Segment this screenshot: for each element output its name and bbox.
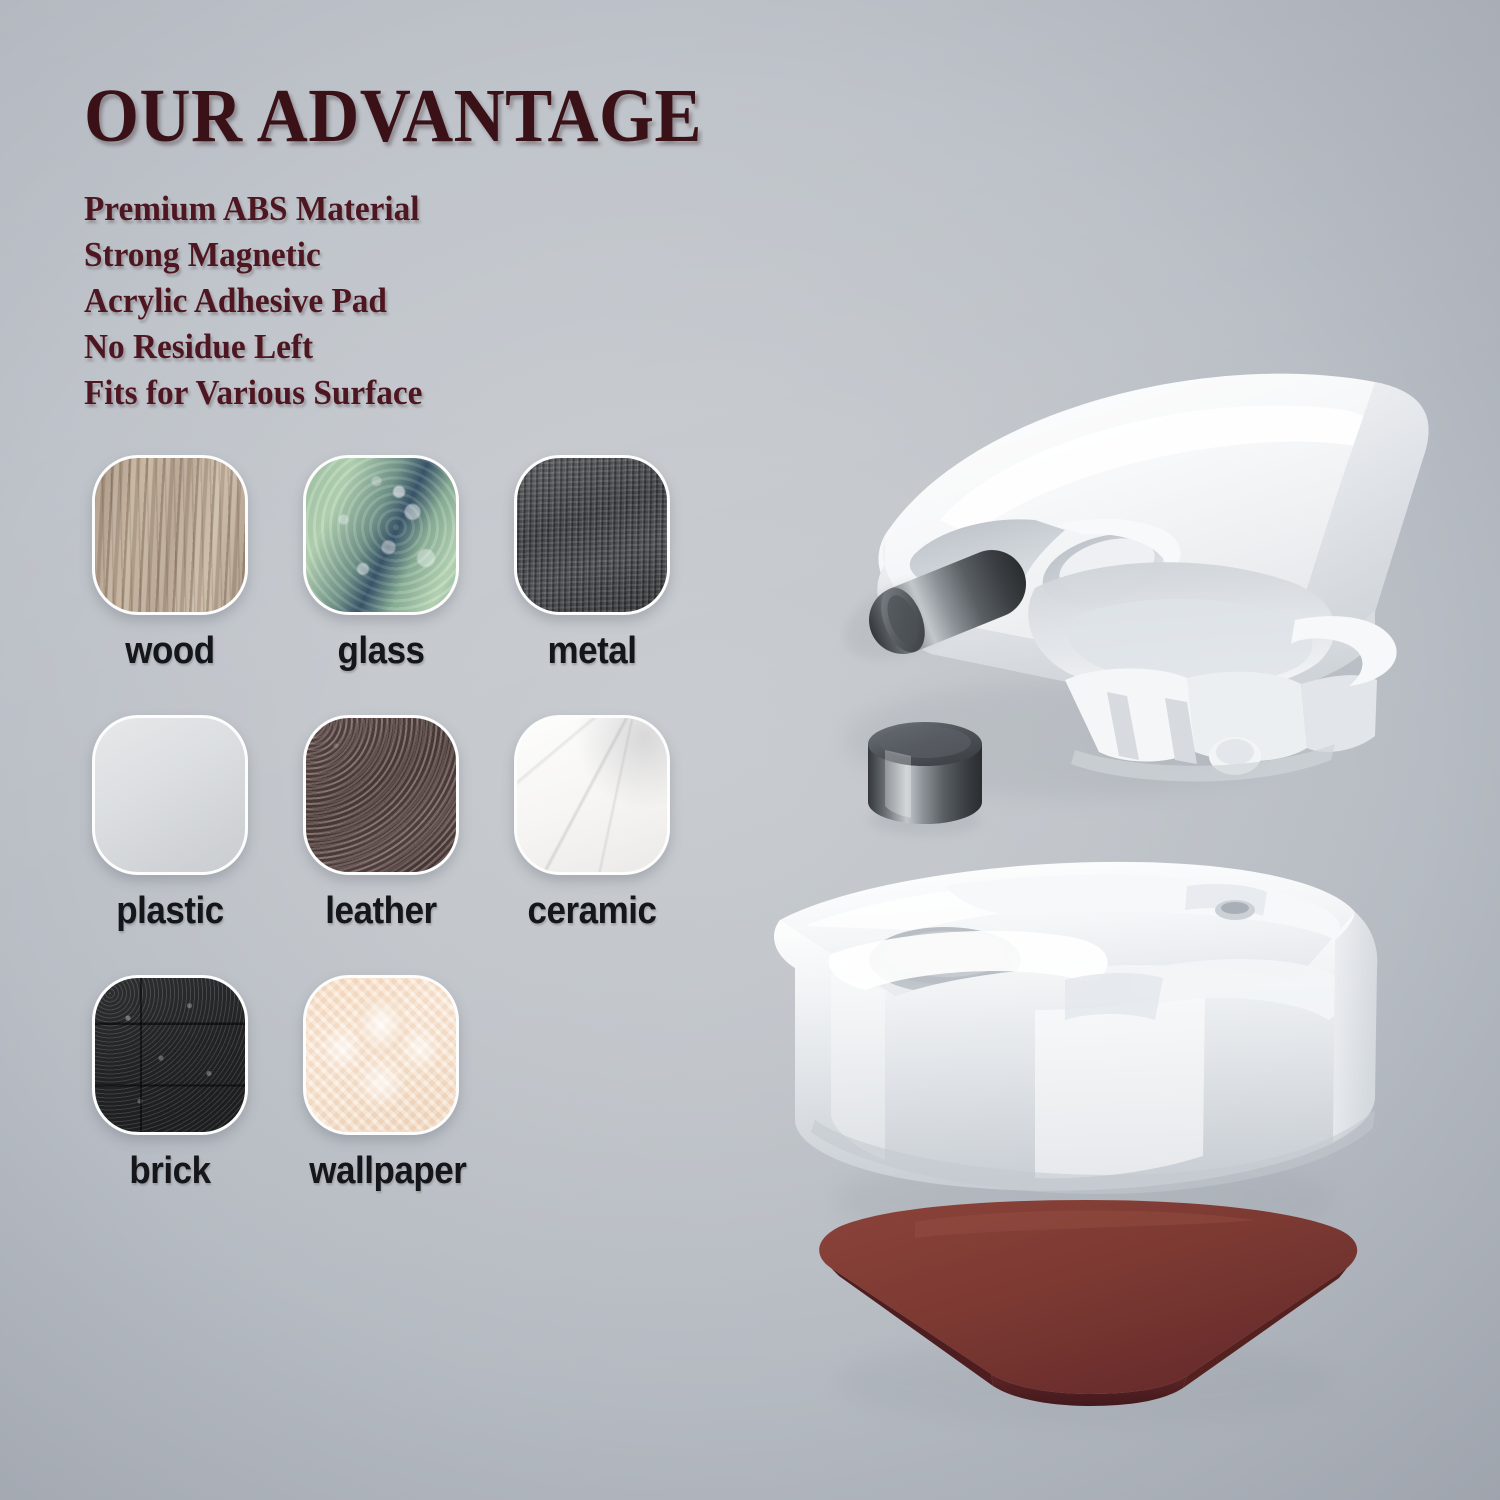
- feature-item: No Residue Left: [84, 324, 692, 370]
- wood-texture-swatch: [92, 455, 248, 615]
- surface-item-ceramic: ceramic: [514, 715, 670, 933]
- adhesive-pad: [819, 1200, 1357, 1426]
- surface-label: leather: [309, 889, 453, 933]
- feature-item: Fits for Various Surface: [84, 370, 692, 416]
- product-exploded-view: [735, 320, 1435, 1450]
- brick-texture-swatch: [92, 975, 248, 1135]
- surface-compatibility-grid: wood glass metal plastic leather ceramic…: [92, 455, 702, 1235]
- glass-texture-swatch: [303, 455, 459, 615]
- surface-label: glass: [309, 629, 453, 673]
- feature-item: Acrylic Adhesive Pad: [84, 278, 692, 324]
- surface-label: wood: [98, 629, 242, 673]
- surface-label: plastic: [98, 889, 242, 933]
- surface-item-wallpaper: wallpaper: [303, 975, 459, 1193]
- surface-item-wood: wood: [92, 455, 248, 673]
- surface-item-glass: glass: [303, 455, 459, 673]
- ceramic-texture-swatch: [514, 715, 670, 875]
- feature-item: Strong Magnetic: [84, 232, 692, 278]
- surface-item-leather: leather: [303, 715, 459, 933]
- wallpaper-texture-swatch: [303, 975, 459, 1135]
- wall-base-magnet: [868, 722, 982, 835]
- surface-row: brick wallpaper: [92, 975, 702, 1193]
- surface-item-brick: brick: [92, 975, 248, 1193]
- surface-label: brick: [98, 1149, 242, 1193]
- surface-item-plastic: plastic: [92, 715, 248, 933]
- surface-item-metal: metal: [514, 455, 670, 673]
- feature-list: Premium ABS Material Strong Magnetic Acr…: [84, 186, 724, 416]
- surface-label: metal: [520, 629, 664, 673]
- surface-label: wallpaper: [309, 1149, 453, 1193]
- leather-texture-swatch: [303, 715, 459, 875]
- page-title: OUR ADVANTAGE: [84, 76, 702, 156]
- surface-label: ceramic: [520, 889, 664, 933]
- feature-item: Premium ABS Material: [84, 186, 692, 232]
- surface-row: plastic leather ceramic: [92, 715, 702, 933]
- surface-row: wood glass metal: [92, 455, 702, 673]
- plastic-texture-swatch: [92, 715, 248, 875]
- wall-base: [774, 862, 1377, 1250]
- metal-texture-swatch: [514, 455, 670, 615]
